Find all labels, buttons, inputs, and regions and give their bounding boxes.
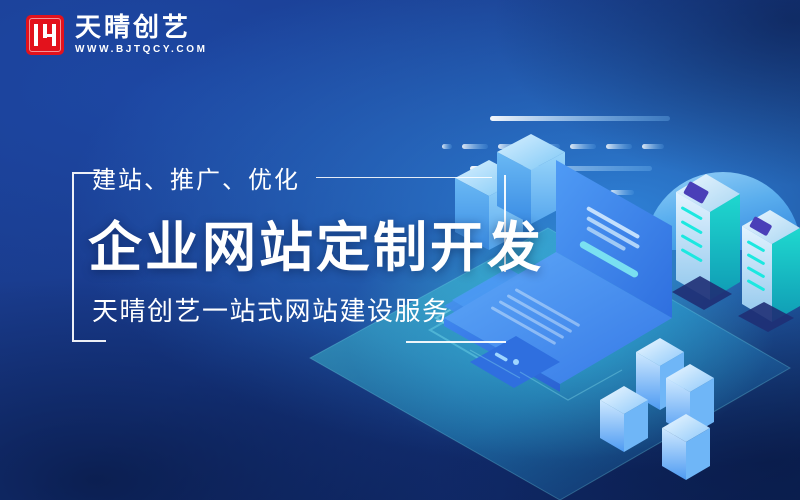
tagline-rule <box>316 177 492 179</box>
logo-company-name: 天晴创艺 <box>75 14 208 40</box>
tagline-text: 建站、推广、优化 <box>92 160 300 195</box>
headline-text: 企业网站定制开发 <box>88 203 544 282</box>
promo-banner: 天晴创艺 WWW.BJTQCY.COM 建站、推广、优化 企业网站定制开发 天晴… <box>0 0 800 500</box>
frame-bracket-foot <box>406 341 506 343</box>
logo-text-group: 天晴创艺 WWW.BJTQCY.COM <box>75 14 208 55</box>
server-rack-small <box>738 210 800 332</box>
subline-text: 天晴创艺一站式网站建设服务 <box>92 291 450 328</box>
data-block-4 <box>662 414 710 480</box>
logo-mark-icon <box>26 15 64 55</box>
logo-website-url: WWW.BJTQCY.COM <box>75 45 208 55</box>
brand-logo[interactable]: 天晴创艺 WWW.BJTQCY.COM <box>26 14 208 55</box>
data-block-3 <box>600 386 648 452</box>
tagline-row: 建站、推广、优化 <box>92 160 492 195</box>
